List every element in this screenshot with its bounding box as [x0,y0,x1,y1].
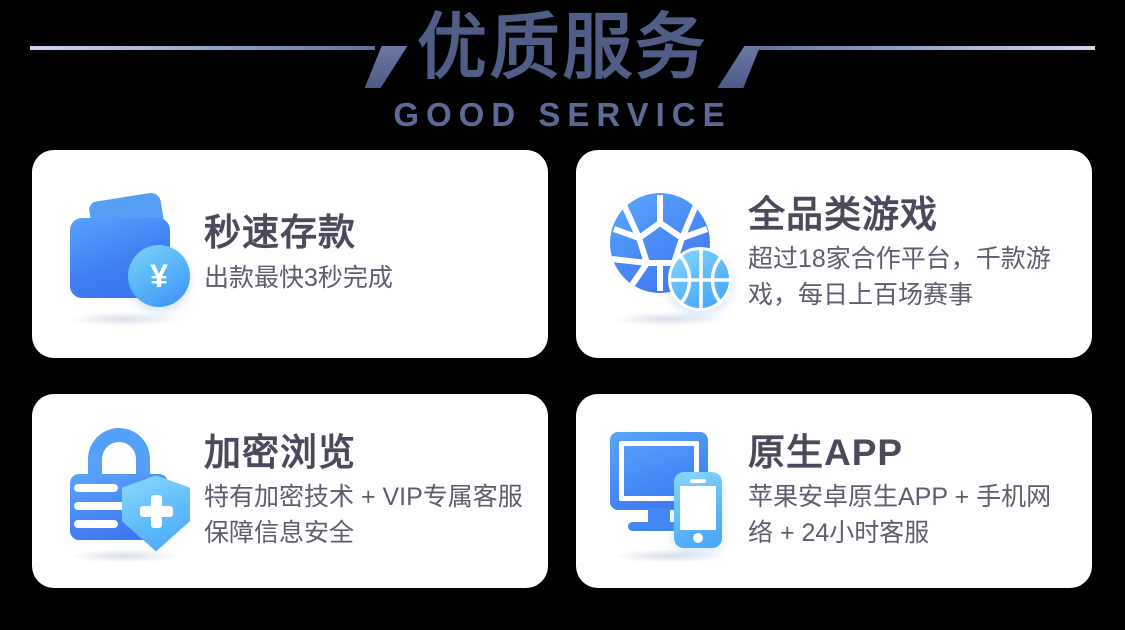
phone-icon [674,472,722,548]
lock-shield-icon [58,424,198,559]
page-header: 优质服务 GOOD SERVICE [0,0,1125,142]
phone-home-button-icon [693,533,703,543]
feature-title: 加密浏览 [204,431,530,475]
feature-subtitle: 特有加密技术 + VIP专属客服保障信息安全 [204,479,530,551]
feature-title: 全品类游戏 [748,193,1074,237]
feature-subtitle: 超过18家合作平台，千款游戏，每日上百场赛事 [748,241,1074,313]
yen-coin-icon: ¥ [128,245,190,307]
page-title: 优质服务 [17,6,1108,90]
feature-title: 秒速存款 [204,211,530,255]
monitor-phone-icon [602,424,742,559]
lock-line [74,502,128,510]
feature-card-deposit[interactable]: ¥ 秒速存款 出款最快3秒完成 [32,150,548,358]
feature-card-text: 全品类游戏 超过18家合作平台，千款游戏，每日上百场赛事 [742,195,1074,313]
cross-icon [139,494,173,528]
soccer-basketball-icon [602,187,742,322]
yen-symbol: ¥ [150,260,168,292]
page-subtitle: GOOD SERVICE [0,96,1125,134]
feature-card-native-app[interactable]: 原生APP 苹果安卓原生APP + 手机网络 + 24小时客服 [576,394,1092,588]
lock-line [74,484,118,492]
phone-screen-icon [680,486,716,530]
feature-card-encryption[interactable]: 加密浏览 特有加密技术 + VIP专属客服保障信息安全 [32,394,548,588]
feature-subtitle: 出款最快3秒完成 [204,260,530,296]
feature-card-text: 秒速存款 出款最快3秒完成 [198,213,530,296]
phone-speaker-icon [690,479,706,483]
icon-shadow [68,549,180,563]
feature-title: 原生APP [748,431,1074,475]
basketball-icon [668,247,732,311]
wallet-yen-icon: ¥ [58,187,198,322]
feature-card-text: 原生APP 苹果安卓原生APP + 手机网络 + 24小时客服 [742,431,1074,551]
feature-subtitle: 苹果安卓原生APP + 手机网络 + 24小时客服 [748,479,1074,551]
icon-shadow [612,549,724,563]
icon-shadow [68,312,180,326]
feature-card-games[interactable]: 全品类游戏 超过18家合作平台，千款游戏，每日上百场赛事 [576,150,1092,358]
shield-icon [122,476,190,552]
promo-page: 优质服务 GOOD SERVICE ¥ 秒速存款 出款最快3秒完成 [0,0,1125,630]
lock-line [74,520,118,528]
feature-card-text: 加密浏览 特有加密技术 + VIP专属客服保障信息安全 [198,431,530,551]
feature-card-grid: ¥ 秒速存款 出款最快3秒完成 [32,150,1092,590]
